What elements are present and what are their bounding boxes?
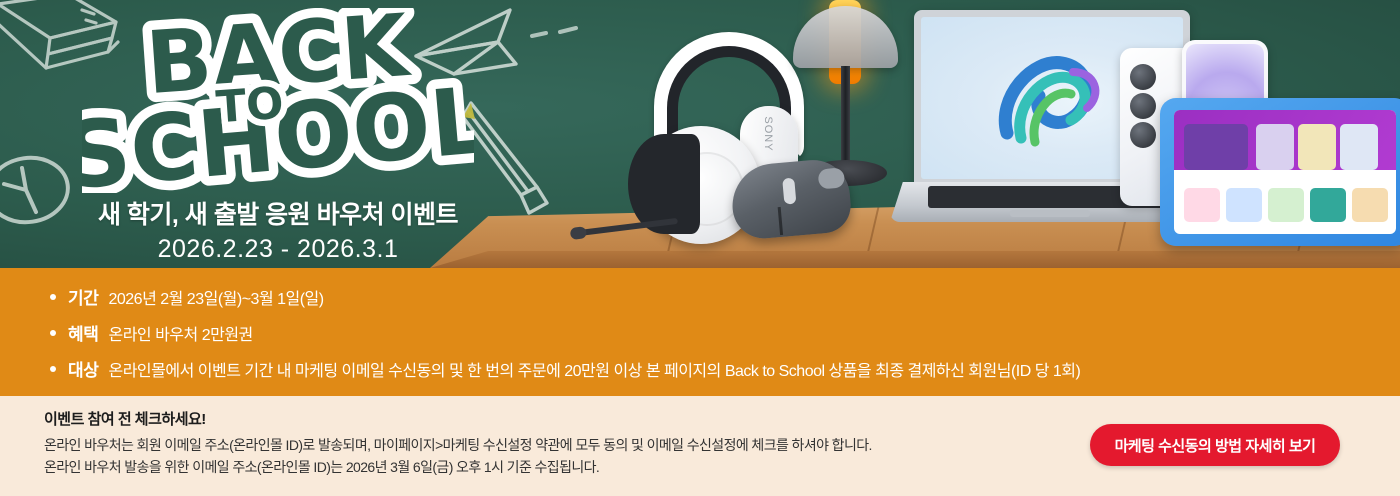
detail-value-benefit: 온라인 바우처 2만원권 (108, 321, 252, 345)
detail-value-eligibility: 온라인몰에서 이벤트 기간 내 마케팅 이메일 수신동의 및 한 번의 주문에 … (108, 357, 1080, 381)
detail-row-period: 기간 2026년 2월 23일(월)~3월 1일(일) (40, 284, 1400, 309)
detail-value-period: 2026년 2월 23일(월)~3월 1일(일) (108, 285, 323, 309)
detail-label-eligibility: 대상 (68, 356, 98, 381)
event-details-band: 기간 2026년 2월 23일(월)~3월 1일(일) 혜택 온라인 바우처 2… (0, 268, 1400, 396)
detail-label-benefit: 혜택 (68, 320, 98, 345)
marketing-consent-guide-button[interactable]: 마케팅 수신동의 방법 자세히 보기 (1090, 424, 1340, 466)
svg-text:TO: TO (214, 78, 285, 134)
back-to-school-event-banner: SONY (0, 0, 1400, 496)
kids-tablet-product (1160, 98, 1400, 258)
bullet-dot-icon (50, 294, 56, 300)
headphone-brand-label: SONY (762, 110, 774, 158)
detail-label-period: 기간 (68, 284, 98, 309)
hero-date-range: 2026.2.23 - 2026.3.1 (78, 235, 478, 264)
hero-subtitle: 새 학기, 새 출발 응원 바우처 이벤트 (78, 195, 478, 231)
detail-row-benefit: 혜택 온라인 바우처 2만원권 (40, 320, 1400, 345)
back-to-school-wordmark: .bubble { font-family:"DejaVu Sans", san… (82, 8, 474, 193)
hero-chalkboard: SONY (0, 0, 1400, 268)
hero-title-lockup: .bubble { font-family:"DejaVu Sans", san… (78, 8, 478, 264)
product-photo-group: SONY (560, 0, 1400, 268)
bullet-dot-icon (50, 366, 56, 372)
mouse-product (732, 162, 850, 240)
detail-row-eligibility: 대상 온라인몰에서 이벤트 기간 내 마케팅 이메일 수신동의 및 한 번의 주… (40, 356, 1400, 381)
bullet-dot-icon (50, 330, 56, 336)
